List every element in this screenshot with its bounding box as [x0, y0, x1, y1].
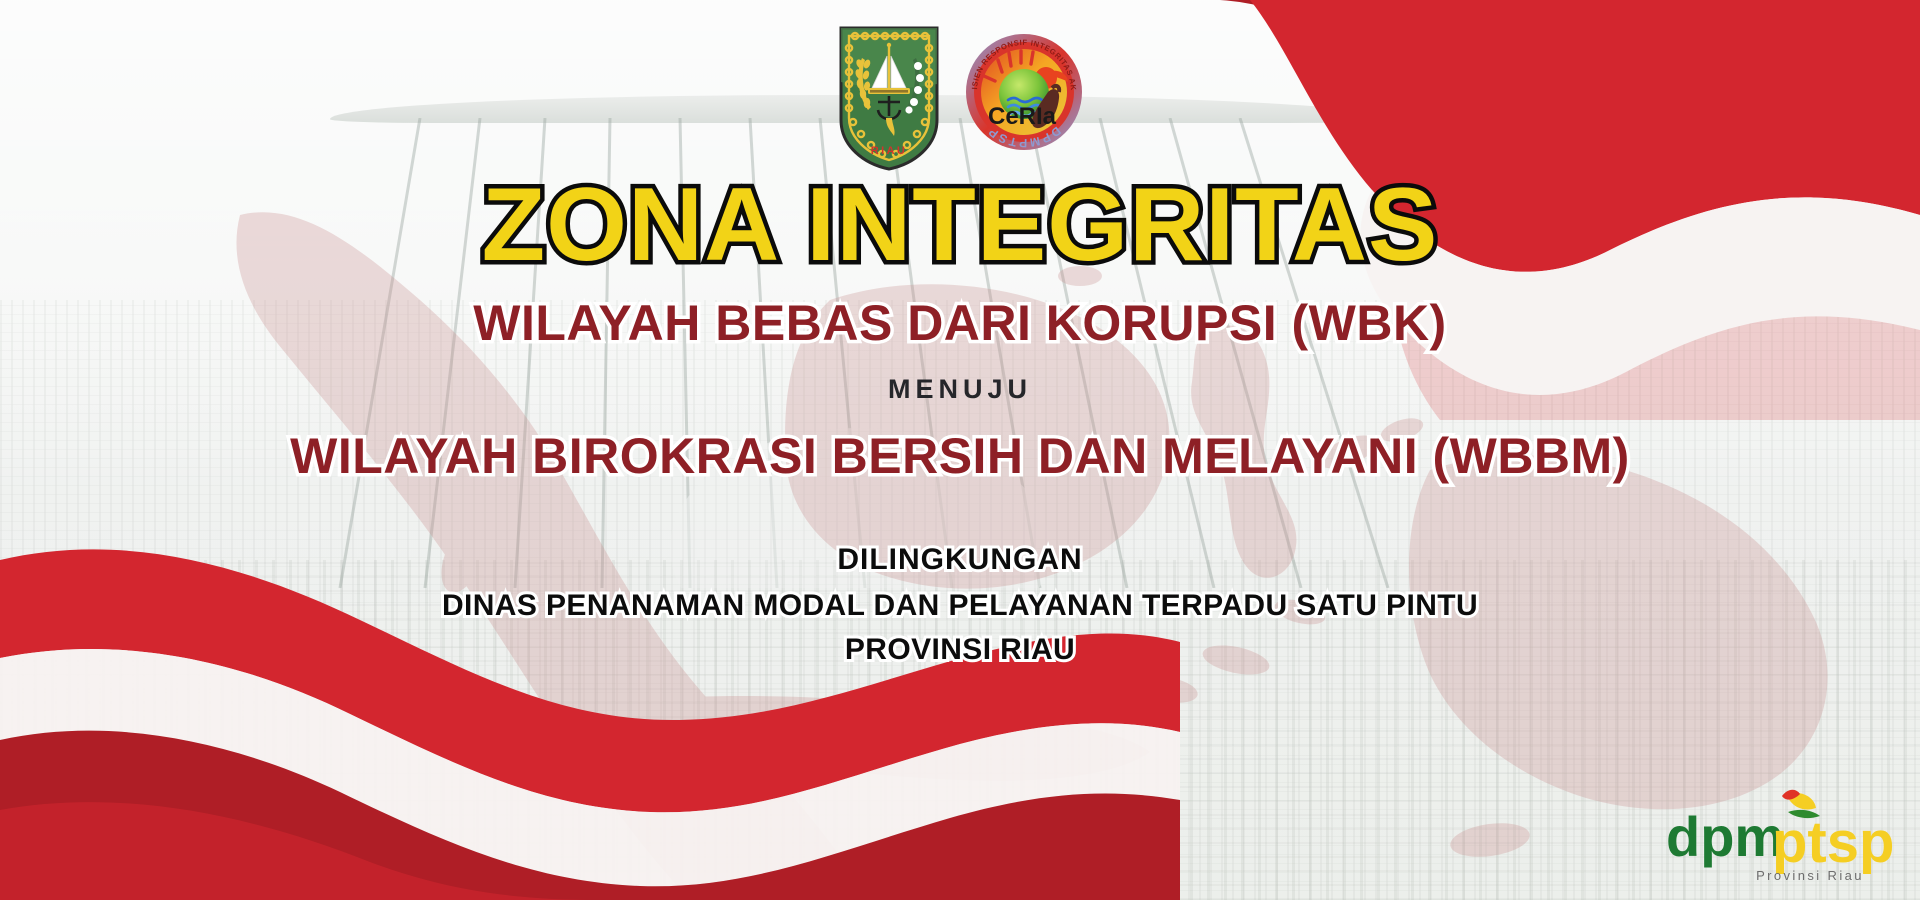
- ceria-center-text: CeRIa: [988, 103, 1057, 130]
- dpmptsp-yellow-part: ptsp: [1772, 810, 1894, 875]
- dpmptsp-wordmark-logo-icon: dpm ptsp Provinsi Riau: [1658, 782, 1894, 886]
- organization-line-1: DINAS PENANAMAN MODAL DAN PELAYANAN TERP…: [0, 589, 1920, 623]
- riau-shield-icon: RIAU: [836, 24, 942, 172]
- organization-line-2: PROVINSI RIAU: [0, 633, 1920, 667]
- connector-label: MENUJU: [0, 374, 1920, 405]
- riau-shield-caption: RIAU: [871, 145, 908, 157]
- subtitle-wbbm: WILAYAH BIROKRASI BERSIH DAN MELAYANI (W…: [0, 427, 1920, 485]
- zona-integritas-banner: RIAU: [0, 0, 1920, 900]
- page-title: ZONA INTEGRITAS: [0, 172, 1920, 278]
- logo-group: RIAU: [836, 24, 1084, 172]
- dpmptsp-tagline: Provinsi Riau: [1756, 868, 1864, 883]
- ceria-seal-icon: CEPAT EFISIEN RESPONSIF INTEGRITAS AKUNT…: [964, 32, 1084, 152]
- dpmptsp-green-part: dpm: [1666, 805, 1784, 868]
- scope-label: DILINGKUNGAN: [0, 543, 1920, 577]
- banner-text-block: ZONA INTEGRITAS WILAYAH BEBAS DARI KORUP…: [0, 172, 1920, 667]
- subtitle-wbk: WILAYAH BEBAS DARI KORUPSI (WBK): [0, 294, 1920, 352]
